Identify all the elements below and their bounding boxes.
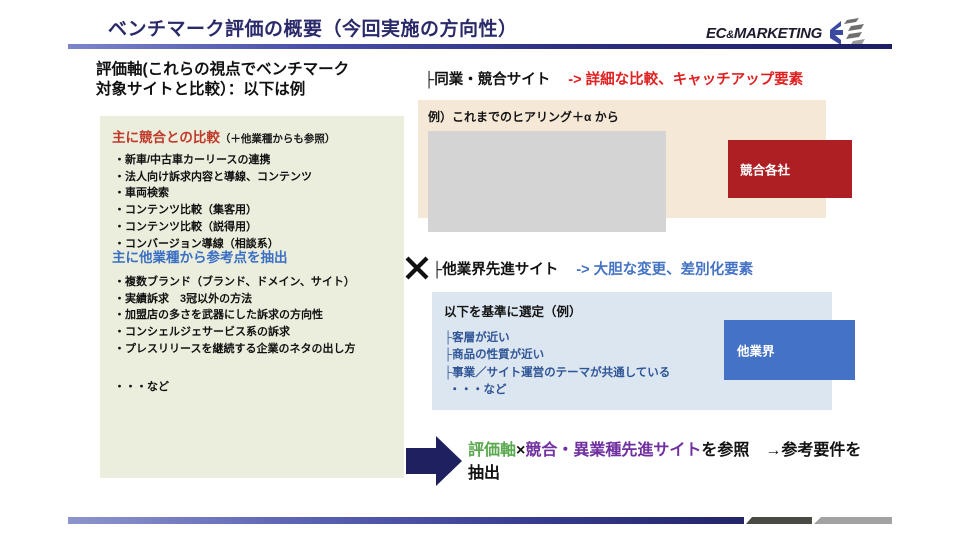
- conclusion-part-sites: 競合・異業種先進サイト: [525, 442, 701, 459]
- evaluation-axis-heading-line1: 評価軸(これらの視点でベンチマーク: [96, 60, 416, 80]
- brand-logo-text: EC&MARKETING: [706, 25, 822, 42]
- other-industry-site-heading: ├他業界先進サイト-> 大胆な変更、差別化要素: [432, 258, 753, 279]
- list-item: ・コンテンツ比較（集客用）: [114, 202, 312, 219]
- list-item: ・コンシェルジェサービス系の訴求: [114, 324, 355, 341]
- list-item: ・加盟店の多さを武器にした訴求の方向性: [114, 307, 355, 324]
- other-industry-site-heading-label: ├他業界先進サイト: [432, 262, 558, 278]
- competitor-site-heading-label: ├同業・競合サイト: [424, 72, 550, 88]
- conclusion-text: 評価軸×競合・異業種先進サイトを参照 →参考要件を抽出: [468, 440, 868, 485]
- list-item: ・コンテンツ比較（説得用）: [114, 219, 312, 236]
- competitor-site-heading: ├同業・競合サイト-> 詳細な比較、キャッチアップ要素: [424, 68, 803, 89]
- competitor-site-note: -> 詳細な比較、キャッチアップ要素: [568, 72, 803, 88]
- list-item: ・法人向け訴求内容と導線、コンテンツ: [114, 169, 312, 186]
- header-divider: [68, 44, 892, 49]
- other-industry-tag-label: 他業界: [737, 341, 775, 360]
- section-competitor-comparison-title: 主に競合との比較（＋他業種からも参照）: [112, 130, 335, 146]
- image-placeholder: [428, 131, 666, 232]
- footer-segment-blue: [68, 517, 744, 524]
- list-item: ・実績訴求 3冠以外の方法: [114, 291, 355, 308]
- competitor-box-label: 例）これまでのヒアリング＋α から: [428, 108, 619, 125]
- brand-logo-amp: &: [726, 29, 734, 41]
- other-industry-box-label: 以下を基準に選定（例）: [444, 301, 582, 320]
- competitor-tag-badge: 競合各社: [728, 140, 852, 198]
- list-item: ・複数ブランド（ブランド、ドメイン、サイト）: [114, 274, 355, 291]
- list-item: ・プレスリリースを継続する企業のネタの出し方: [114, 341, 355, 358]
- other-industry-site-note: -> 大胆な変更、差別化要素: [576, 262, 753, 278]
- list-item: ・車両検索: [114, 185, 312, 202]
- conclusion-part-axis: 評価軸: [468, 442, 516, 459]
- brand-logo-marketing: MARKETING: [734, 25, 822, 42]
- x-cross-icon: [404, 255, 430, 281]
- section-competitor-comparison-title-main: 主に競合との比較: [112, 130, 220, 145]
- evaluation-axis-heading-line2: 対象サイトと比較）：以下は例: [96, 80, 416, 100]
- list-item: ・新車/中古車カーリースの連携: [114, 152, 312, 169]
- footer-segment-gray: [814, 517, 892, 524]
- list-item-etc: ・・・など: [444, 382, 670, 399]
- list-item: ├商品の性質が近い: [444, 347, 670, 364]
- section-competitor-comparison-title-sub: （＋他業種からも参照）: [220, 133, 336, 145]
- list-item: ├客層が近い: [444, 330, 670, 347]
- selection-criteria-list: ├客層が近い ├商品の性質が近い ├事業／サイト運営のテーマが共通している ・・…: [444, 330, 670, 399]
- section-other-industry-title: 主に他業種から参考点を抽出: [112, 250, 288, 266]
- other-industry-etc-text: ・・・など: [114, 378, 169, 394]
- slide-canvas: ベンチマーク評価の概要（今回実施の方向性） EC&MARKETING 評価軸(こ…: [0, 0, 960, 540]
- footer-segment-dark: [746, 517, 812, 524]
- other-industry-reference-list: ・複数ブランド（ブランド、ドメイン、サイト） ・実績訴求 3冠以外の方法 ・加盟…: [114, 274, 355, 358]
- evaluation-axis-heading: 評価軸(これらの視点でベンチマーク 対象サイトと比較）：以下は例: [96, 60, 416, 101]
- list-item: ├事業／サイト運営のテーマが共通している: [444, 365, 670, 382]
- other-industry-tag-badge: 他業界: [724, 320, 855, 380]
- competitor-tag-label: 競合各社: [740, 160, 790, 179]
- evaluation-axis-panel: 主に競合との比較（＋他業種からも参照） ・新車/中古車カーリースの連携 ・法人向…: [100, 116, 404, 478]
- page-title: ベンチマーク評価の概要（今回実施の方向性）: [108, 14, 518, 41]
- footer-decoration-bar: [68, 517, 892, 524]
- brand-logo-ec: EC: [706, 25, 726, 42]
- conclusion-part-times: ×: [516, 442, 525, 459]
- right-arrow-icon: [406, 432, 462, 490]
- competitor-comparison-list: ・新車/中古車カーリースの連携 ・法人向け訴求内容と導線、コンテンツ ・車両検索…: [114, 152, 312, 252]
